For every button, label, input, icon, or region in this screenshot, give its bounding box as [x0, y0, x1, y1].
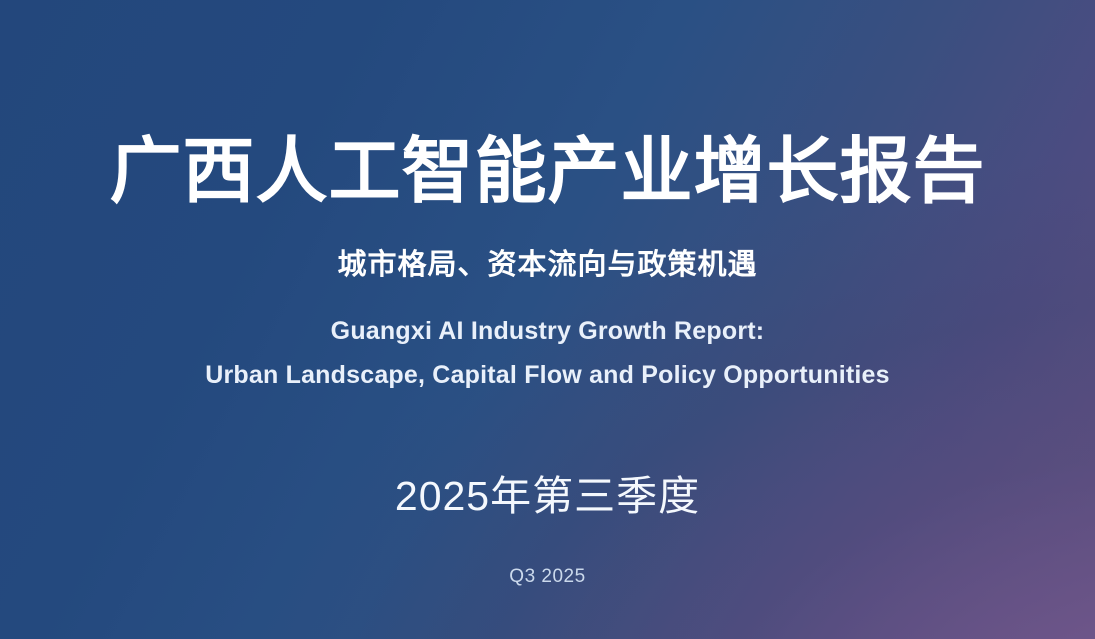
subtitle-chinese: 城市格局、资本流向与政策机遇 — [0, 248, 1095, 283]
title-slide: 广西人工智能产业增长报告 城市格局、资本流向与政策机遇 Guangxi AI I… — [0, 0, 1095, 639]
subtitle-english: Guangxi AI Industry Growth Report: Urban… — [0, 309, 1095, 397]
subtitle-english-line-1: Guangxi AI Industry Growth Report: — [0, 309, 1095, 353]
date-english: Q3 2025 — [0, 566, 1095, 588]
subtitle-english-line-2: Urban Landscape, Capital Flow and Policy… — [0, 353, 1095, 397]
page-title: 广西人工智能产业增长报告 — [0, 136, 1095, 208]
date-chinese: 2025年第三季度 — [0, 462, 1095, 522]
